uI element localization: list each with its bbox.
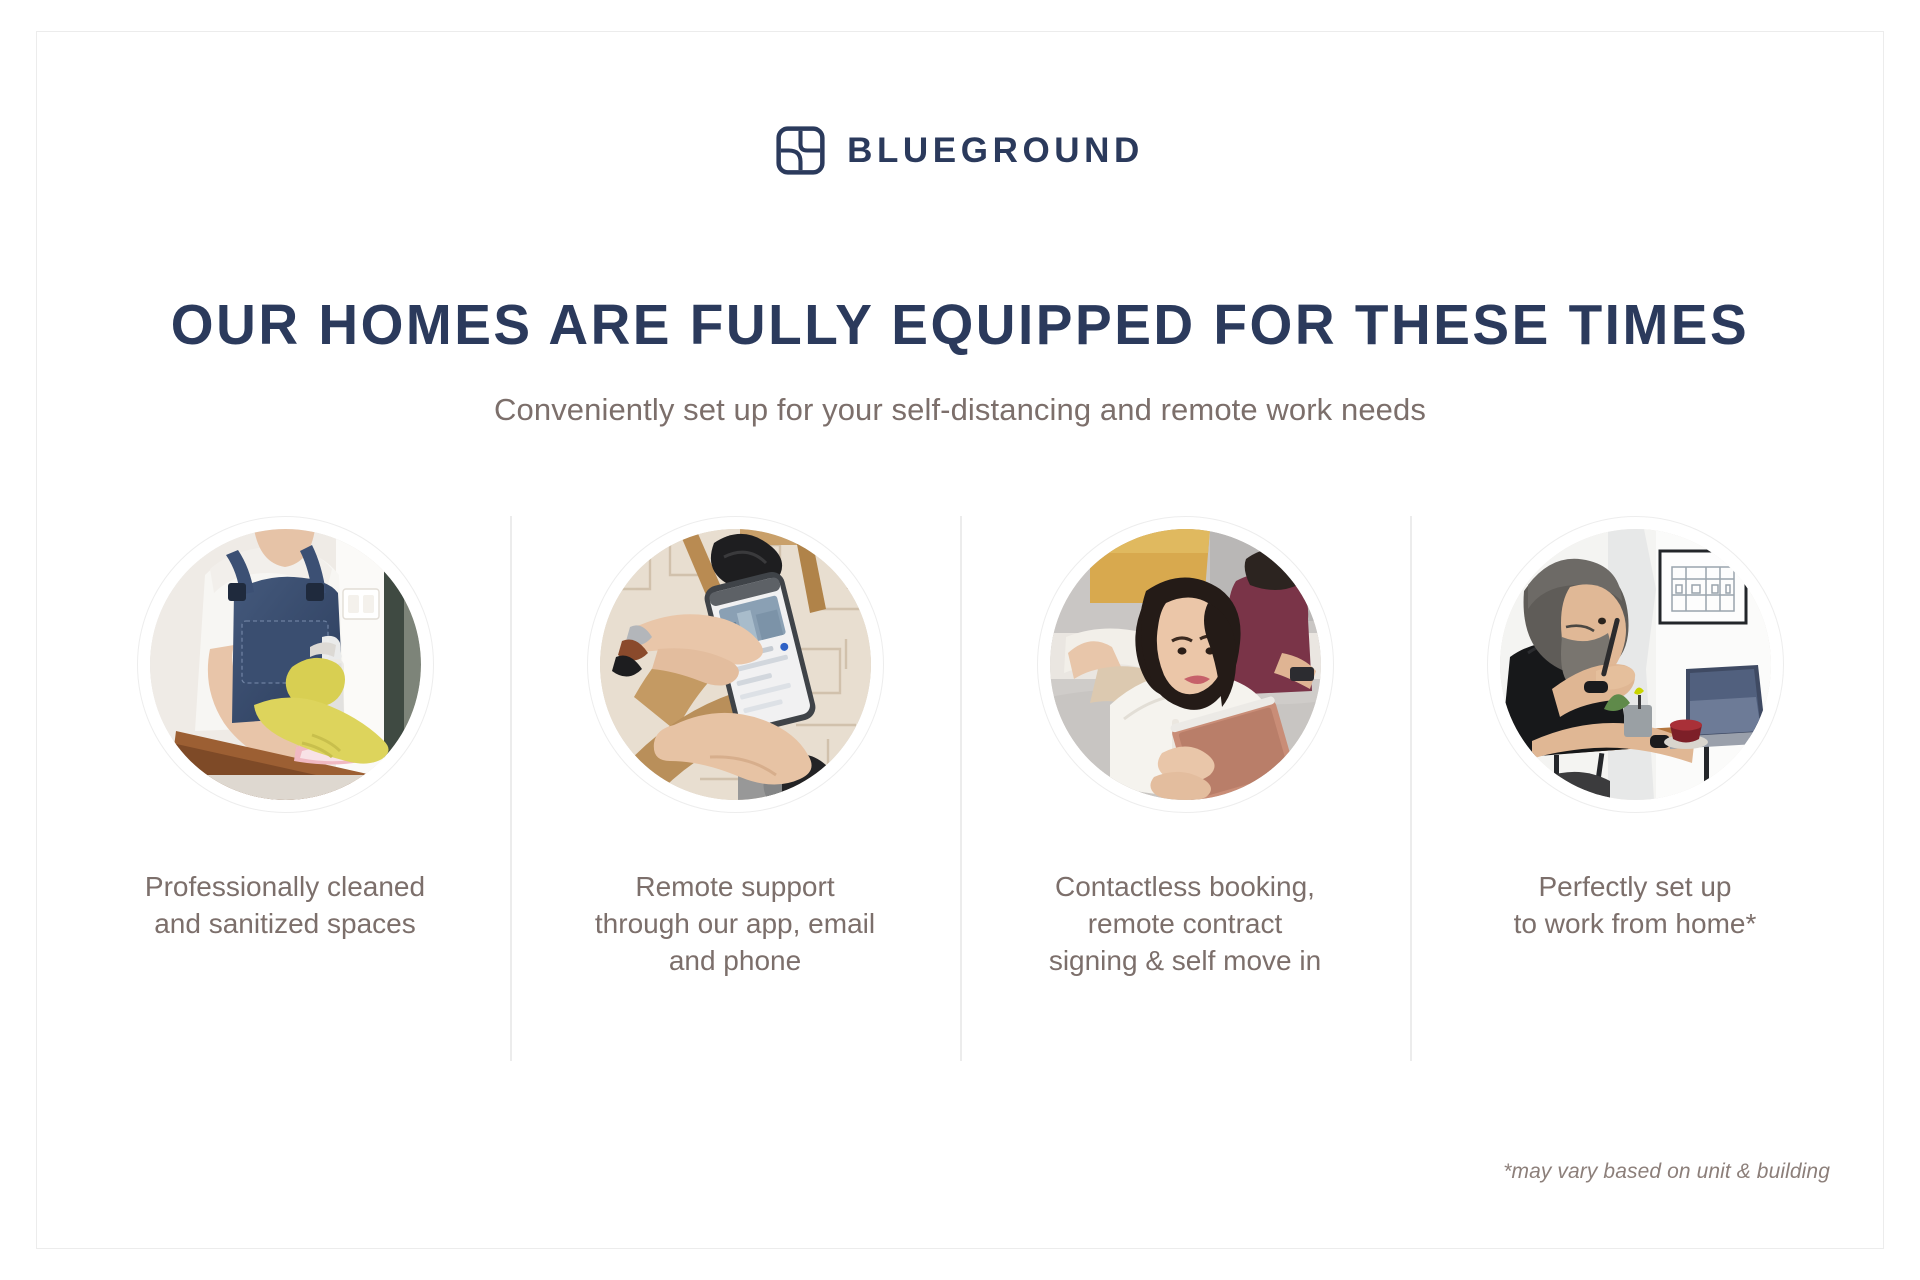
photo-contactless-booking [1050,529,1321,800]
photo-ring [587,516,884,813]
page-subtitle: Conveniently set up for your self-distan… [0,391,1920,430]
photo-work-from-home [1500,529,1771,800]
feature-column-work-from-home: Perfectly set up to work from home* [1410,516,1860,943]
feature-columns: Professionally cleaned and sanitized spa… [60,516,1860,980]
photo-ring [137,516,434,813]
page-title: OUR HOMES ARE FULLY EQUIPPED FOR THESE T… [34,297,1887,354]
brand-wordmark: BLUEGROUND [847,133,1144,168]
feature-caption: Contactless booking, remote contract sig… [1049,869,1321,980]
feature-caption: Perfectly set up to work from home* [1514,869,1757,943]
blueground-square-logo-icon [776,126,825,175]
feature-caption: Professionally cleaned and sanitized spa… [145,869,425,943]
poster: BLUEGROUND OUR HOMES ARE FULLY EQUIPPED … [0,0,1920,1280]
feature-caption: Remote support through our app, email an… [595,869,875,980]
feature-column-cleaning: Professionally cleaned and sanitized spa… [60,516,510,943]
feature-column-remote-support: Remote support through our app, email an… [510,516,960,980]
feature-column-contactless-booking: Contactless booking, remote contract sig… [960,516,1410,980]
photo-ring [1037,516,1334,813]
brand-lockup: BLUEGROUND [0,126,1920,175]
photo-cleaning [150,529,421,800]
photo-ring [1487,516,1784,813]
photo-remote-support [600,529,871,800]
footnote-disclaimer: *may vary based on unit & building [1503,1160,1830,1184]
